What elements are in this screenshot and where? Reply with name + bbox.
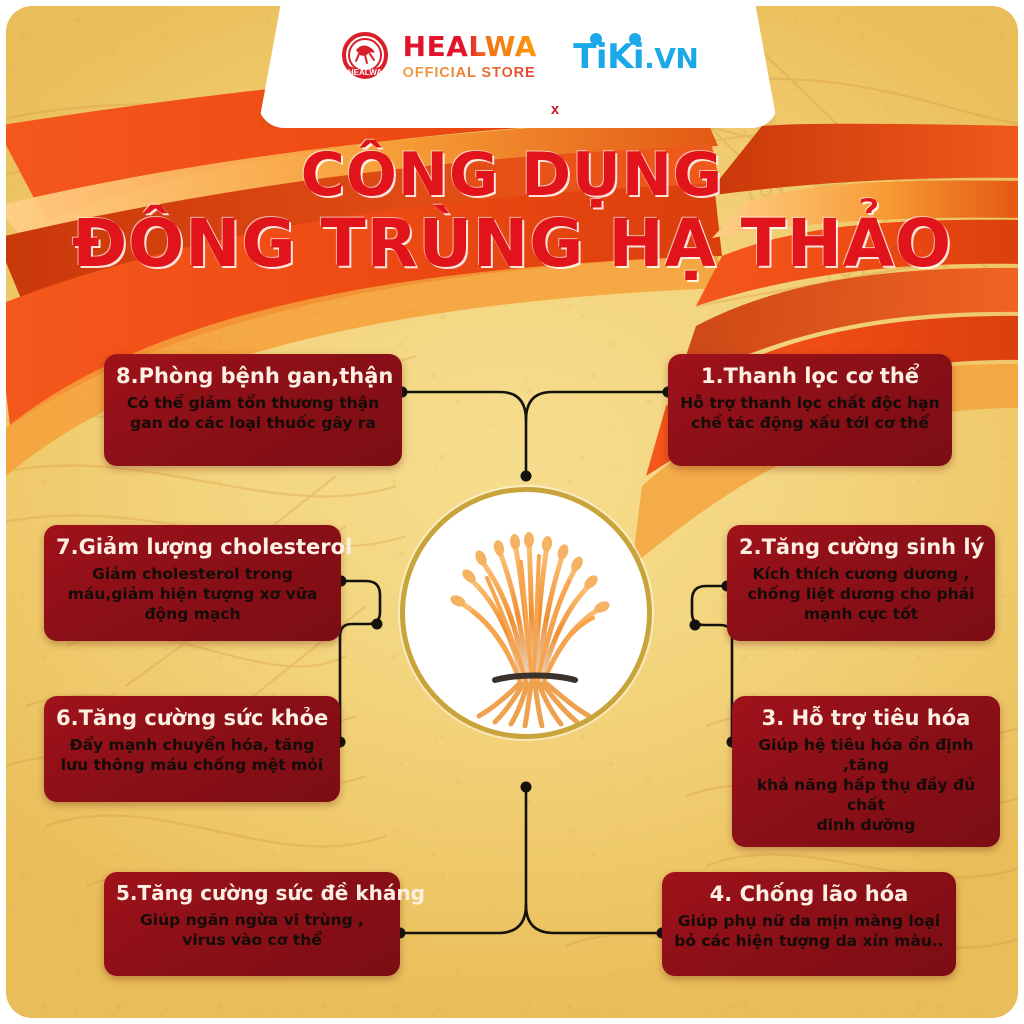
benefit-box-7[interactable]: 7.Giảm lượng cholesterol Giảm cholestero…: [44, 525, 341, 641]
benefit-box-4-title: 4. Chống lão hóa: [674, 882, 944, 907]
benefit-box-3-body: Giúp hệ tiêu hóa ổn định ,tăng khả năng …: [744, 735, 988, 836]
benefit-box-7-body: Giảm cholesterol trong máu,giảm hiện tượ…: [56, 564, 329, 624]
benefit-box-1-body: Hỗ trợ thanh lọc chất độc hạn chế tác độ…: [680, 393, 940, 433]
healwa-horse-seal-icon: HEALWA: [338, 30, 392, 84]
benefit-box-3[interactable]: 3. Hỗ trợ tiêu hóa Giúp hệ tiêu hóa ổn đ…: [732, 696, 1000, 847]
healwa-subtitle: OFFICIAL STORE: [403, 66, 537, 81]
healwa-brand-block: HEALWA HEALWA OFFICIAL STORE: [338, 30, 537, 84]
benefit-box-7-title: 7.Giảm lượng cholesterol: [56, 535, 329, 560]
center-product-circle: [400, 487, 652, 739]
benefit-box-5-body: Giúp ngăn ngừa vi trùng , virus vào cơ t…: [116, 910, 388, 950]
benefit-box-6-body: Đẩy mạnh chuyển hóa, tăng lưu thông máu …: [56, 735, 328, 775]
brand-header-bar: HEALWA HEALWA OFFICIAL STORE x TiKi.VN: [258, 0, 778, 128]
page-title-line1: CÔNG DỤNG: [0, 140, 1024, 210]
benefit-box-6[interactable]: 6.Tăng cường sức khỏe Đẩy mạnh chuyển hó…: [44, 696, 340, 802]
healwa-wordmark: HEALWA OFFICIAL STORE: [403, 33, 537, 81]
page-title-line2: ĐÔNG TRÙNG HẠ THẢO: [0, 205, 1024, 282]
cordyceps-bundle-image: [411, 498, 641, 728]
benefit-box-2-title: 2.Tăng cường sinh lý: [739, 535, 983, 560]
svg-text:HEALWA: HEALWA: [348, 68, 382, 77]
benefit-box-8-title: 8.Phòng bệnh gan,thận: [116, 364, 390, 389]
infographic-canvas: HEALWA HEALWA OFFICIAL STORE x TiKi.VN C…: [0, 0, 1024, 1024]
benefit-box-1[interactable]: 1.Thanh lọc cơ thể Hỗ trợ thanh lọc chất…: [668, 354, 952, 466]
brand-separator: x: [551, 101, 559, 118]
benefit-box-5-title: 5.Tăng cường sức đề kháng: [116, 882, 388, 906]
tiki-logo: TiKi.VN: [573, 37, 698, 77]
benefit-box-8-body: Có thể giảm tổn thương thận gan do các l…: [116, 393, 390, 433]
benefit-box-6-title: 6.Tăng cường sức khỏe: [56, 706, 328, 731]
benefit-box-1-title: 1.Thanh lọc cơ thể: [680, 364, 940, 389]
benefit-box-3-title: 3. Hỗ trợ tiêu hóa: [744, 706, 988, 731]
benefit-box-8[interactable]: 8.Phòng bệnh gan,thận Có thể giảm tổn th…: [104, 354, 402, 466]
benefit-box-2[interactable]: 2.Tăng cường sinh lý Kích thích cương dư…: [727, 525, 995, 641]
benefit-box-2-body: Kích thích cương dương , chống liệt dươn…: [739, 564, 983, 624]
benefit-box-5[interactable]: 5.Tăng cường sức đề kháng Giúp ngăn ngừa…: [104, 872, 400, 976]
benefit-box-4[interactable]: 4. Chống lão hóa Giúp phụ nữ da mịn màng…: [662, 872, 956, 976]
tiki-tld: .VN: [644, 42, 698, 75]
healwa-name: HEALWA: [403, 33, 537, 61]
benefit-box-4-body: Giúp phụ nữ da mịn màng loại bỏ các hiện…: [674, 911, 944, 951]
